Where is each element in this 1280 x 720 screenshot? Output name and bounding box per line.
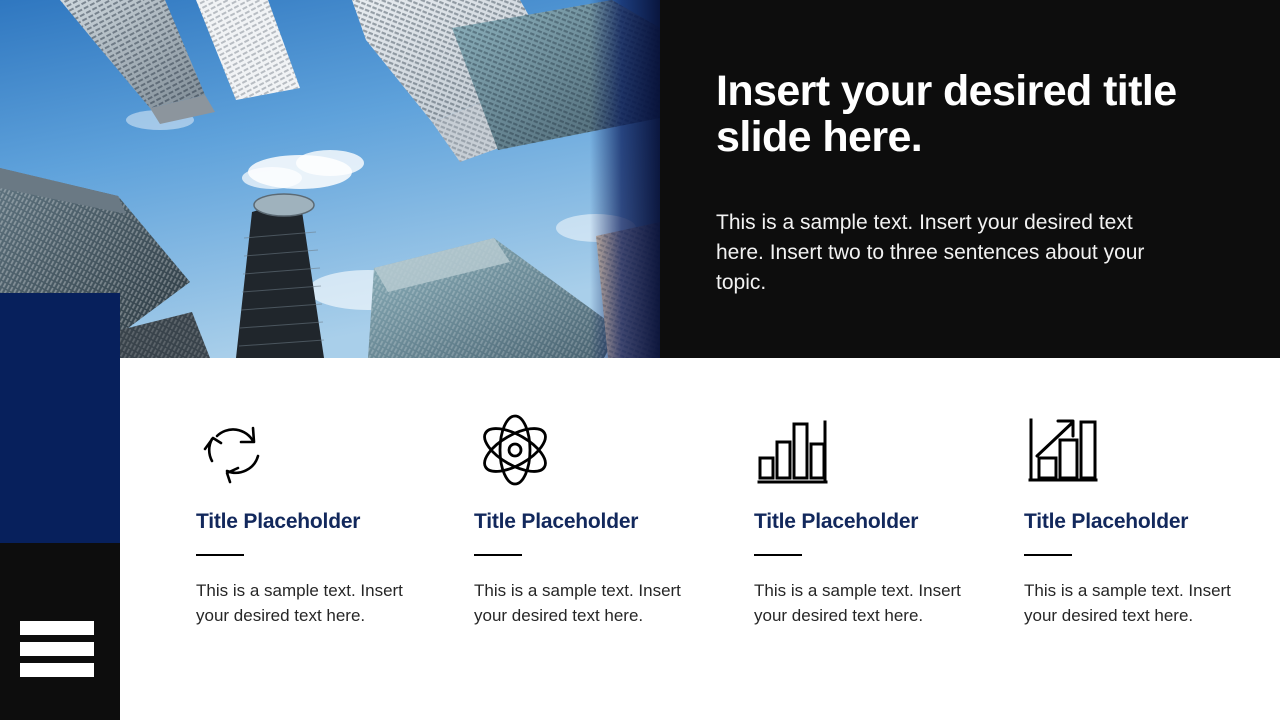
hero-text-panel: Insert your desired title slide here. Th… bbox=[660, 0, 1280, 358]
feature-column: Title Placeholder This is a sample text.… bbox=[474, 358, 724, 628]
column-body-text: This is a sample text. Insert your desir… bbox=[196, 578, 411, 628]
recycle-arrows-icon bbox=[196, 404, 446, 496]
growth-chart-icon bbox=[1024, 404, 1274, 496]
atom-icon bbox=[474, 404, 724, 496]
feature-column: Title Placeholder This is a sample text.… bbox=[1024, 358, 1274, 628]
column-title: Title Placeholder bbox=[474, 510, 724, 534]
column-divider bbox=[754, 554, 802, 556]
feature-columns: Title Placeholder This is a sample text.… bbox=[0, 358, 1280, 720]
column-body-text: This is a sample text. Insert your desir… bbox=[474, 578, 689, 628]
column-divider bbox=[474, 554, 522, 556]
page-title: Insert your desired title slide here. bbox=[716, 68, 1236, 160]
hero-subtitle: This is a sample text. Insert your desir… bbox=[716, 208, 1156, 298]
hero-section: Insert your desired title slide here. Th… bbox=[0, 0, 1280, 358]
feature-column: Title Placeholder This is a sample text.… bbox=[196, 358, 446, 628]
column-body-text: This is a sample text. Insert your desir… bbox=[1024, 578, 1239, 628]
presentation-slide: Insert your desired title slide here. Th… bbox=[0, 0, 1280, 720]
column-divider bbox=[196, 554, 244, 556]
column-title: Title Placeholder bbox=[196, 510, 446, 534]
bar-chart-icon bbox=[754, 404, 1004, 496]
column-title: Title Placeholder bbox=[754, 510, 1004, 534]
column-body-text: This is a sample text. Insert your desir… bbox=[754, 578, 969, 628]
column-divider bbox=[1024, 554, 1072, 556]
feature-column: Title Placeholder This is a sample text.… bbox=[754, 358, 1004, 628]
column-title: Title Placeholder bbox=[1024, 510, 1274, 534]
